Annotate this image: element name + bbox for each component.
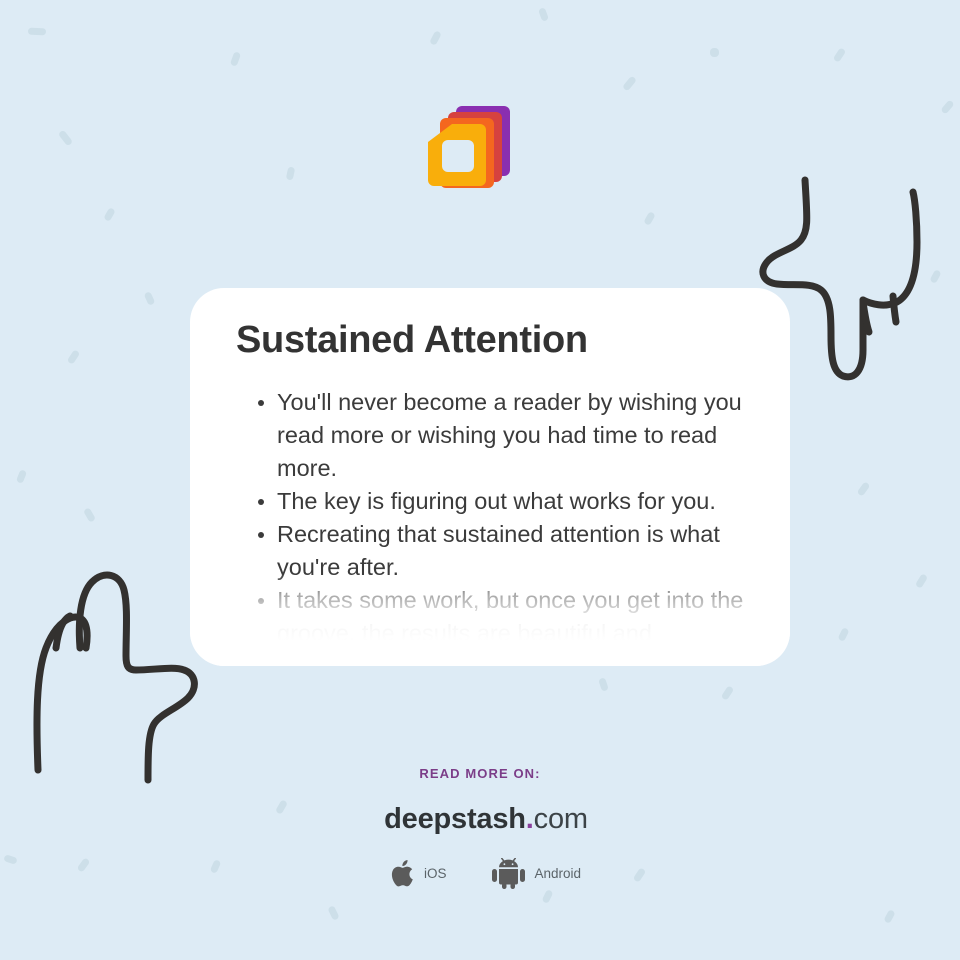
confetti-speck — [16, 469, 27, 484]
deepstash-logo — [424, 104, 524, 200]
apple-icon — [389, 858, 415, 889]
confetti-speck — [915, 573, 928, 589]
logo-inner-cutout — [442, 140, 474, 172]
confetti-speck — [230, 51, 241, 67]
confetti-speck — [103, 207, 116, 222]
deepstash-wordmark[interactable]: deepstash.com — [0, 803, 960, 836]
confetti-speck — [598, 677, 609, 692]
confetti-speck — [58, 130, 73, 147]
list-item: The key is figuring out what works for y… — [236, 485, 746, 518]
ios-store-link[interactable]: iOS — [389, 858, 447, 889]
confetti-speck — [643, 211, 656, 226]
confetti-speck — [144, 291, 156, 306]
confetti-speck — [857, 481, 871, 496]
android-store-link[interactable]: Android — [492, 858, 581, 889]
confetti-speck — [710, 48, 719, 57]
wordmark-brand: deepstash — [384, 803, 526, 835]
android-label: Android — [534, 866, 581, 881]
confetti-speck — [721, 685, 735, 701]
idea-card: Sustained Attention You'll never become … — [190, 288, 790, 666]
confetti-speck — [83, 507, 96, 523]
wordmark-dot: . — [526, 803, 534, 835]
confetti-speck — [67, 349, 81, 365]
confetti-speck — [542, 889, 554, 904]
wordmark-tld: com — [534, 803, 588, 835]
confetti-speck — [833, 47, 847, 63]
confetti-speck — [327, 905, 339, 921]
card-bullet-list: You'll never become a reader by wishing … — [236, 386, 746, 650]
confetti-speck — [883, 909, 895, 924]
confetti-speck — [286, 166, 296, 180]
confetti-speck — [429, 30, 442, 46]
footer: READ MORE ON: deepstash.com iOS — [0, 766, 960, 889]
list-item: Recreating that sustained attention is w… — [236, 518, 746, 584]
confetti-speck — [622, 76, 637, 92]
ios-label: iOS — [424, 866, 447, 881]
list-item: It takes some work, but once you get int… — [236, 584, 746, 650]
android-icon — [492, 858, 525, 889]
list-item: You'll never become a reader by wishing … — [236, 386, 746, 485]
confetti-speck — [838, 627, 850, 642]
confetti-speck — [929, 269, 941, 284]
store-badges: iOS Android — [0, 858, 960, 889]
card-title: Sustained Attention — [236, 318, 746, 364]
read-more-label: READ MORE ON: — [0, 766, 960, 781]
confetti-speck — [940, 99, 954, 114]
confetti-speck — [538, 7, 549, 22]
hand-pointing-up-doodle — [14, 552, 214, 787]
confetti-speck — [28, 28, 46, 36]
poster-canvas: Sustained Attention You'll never become … — [0, 0, 960, 960]
